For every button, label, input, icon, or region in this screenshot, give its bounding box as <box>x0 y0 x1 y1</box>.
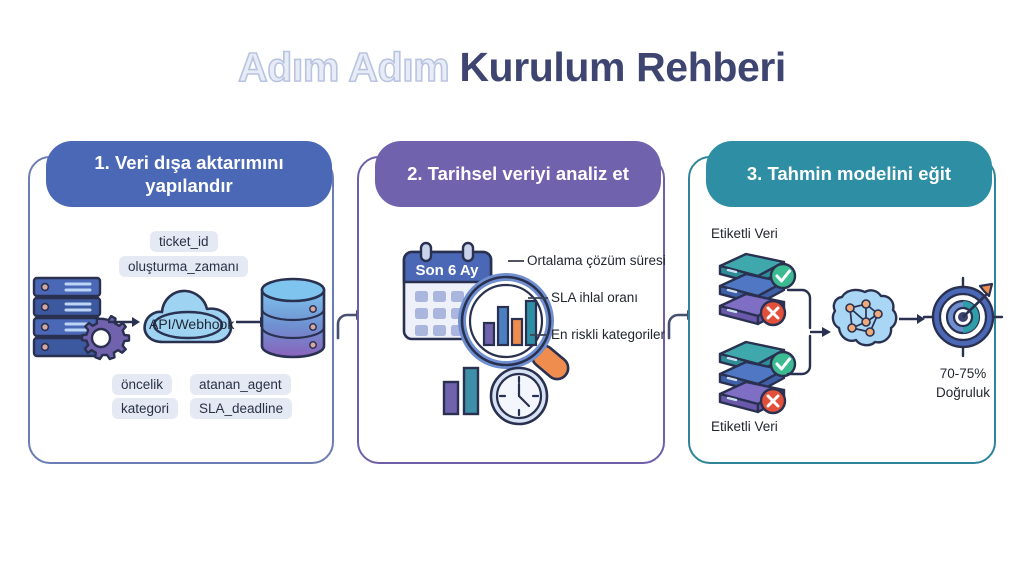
accuracy-value: 70-75% <box>922 366 1004 381</box>
field-chip-sla-deadline: SLA_deadline <box>190 398 292 419</box>
field-chip-kategori: kategori <box>112 398 178 419</box>
brain-icon <box>832 288 898 350</box>
database-icon <box>258 277 328 359</box>
labeled-data-label-top: Etiketli Veri <box>711 226 778 241</box>
merge-connector-icon <box>786 284 834 380</box>
field-chip-olusturma-zamani: oluşturma_zamanı <box>119 256 248 277</box>
small-bar-chart-icon <box>440 364 486 416</box>
field-chip-atanan-agent: atanan_agent <box>190 374 291 395</box>
analysis-bullet-2: SLA ihlal oranı <box>551 290 638 305</box>
field-chip-oncelik: öncelik <box>112 374 172 395</box>
step-card-1-header: 1. Veri dışa aktarımını yapılandır <box>46 141 332 207</box>
x-badge-icon <box>761 389 785 413</box>
target-icon <box>922 276 1004 358</box>
page-title: Adım AdımKurulum Rehberi <box>0 44 1024 91</box>
arrow-server-to-cloud-icon <box>108 315 142 329</box>
title-light-part: Adım Adım <box>238 44 449 90</box>
analysis-bullet-1: Ortalama çözüm süresi <box>527 253 666 268</box>
step-card-3-header: 3. Tahmin modelini eğit <box>706 141 992 207</box>
title-dark-part: Kurulum Rehberi <box>459 44 786 90</box>
clock-icon <box>488 365 550 427</box>
labeled-data-label-bottom: Etiketli Veri <box>711 419 778 434</box>
accuracy-label: Doğruluk <box>922 385 1004 400</box>
analysis-bullet-3: En riskli kategoriler <box>551 327 665 342</box>
x-badge-icon <box>761 301 785 325</box>
cloud-icon <box>140 280 237 350</box>
infographic-page: Adım AdımKurulum Rehberi 1. Veri dışa ak… <box>0 0 1024 572</box>
step-card-2-header: 2. Tarihsel veriyi analiz et <box>375 141 661 207</box>
cloud-label: API/Webhook <box>149 316 234 332</box>
field-chip-ticket-id: ticket_id <box>150 231 218 252</box>
